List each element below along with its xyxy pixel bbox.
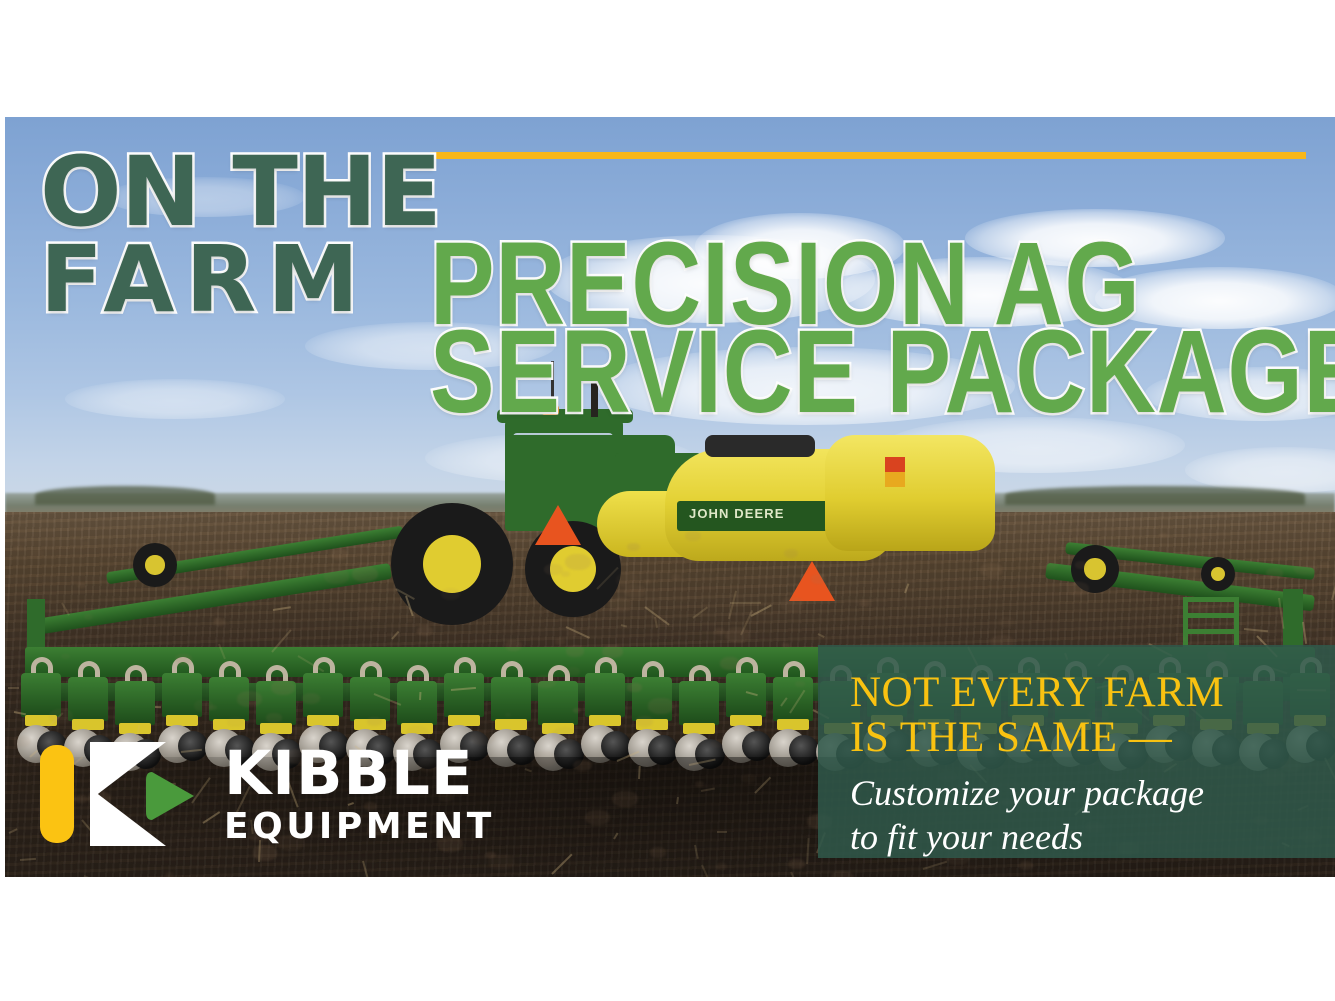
callout-subheading: Customize your package to fit your needs bbox=[850, 772, 1305, 860]
logo-yellow-bar-icon bbox=[40, 745, 74, 843]
gold-divider-rule bbox=[430, 152, 1306, 159]
logo-wordmark: KIBBLE EQUIPMENT bbox=[224, 743, 495, 845]
kibble-k-mark-icon bbox=[90, 742, 196, 846]
eyebrow-line-1: ON THE bbox=[40, 148, 441, 236]
kibble-equipment-logo[interactable]: KIBBLE EQUIPMENT bbox=[40, 742, 495, 846]
logo-name-secondary: EQUIPMENT bbox=[224, 809, 495, 845]
eyebrow-line-2: FARM bbox=[40, 238, 370, 323]
logo-name-primary: KIBBLE bbox=[224, 743, 495, 804]
promotional-banner: JOHN DEERE ON THE FARM PRECISION AG SERV… bbox=[0, 0, 1335, 1001]
callout-panel: NOT EVERY FARM IS THE SAME — Customize y… bbox=[818, 645, 1335, 858]
callout-heading: NOT EVERY FARM IS THE SAME — bbox=[850, 671, 1305, 760]
headline-line-2: SERVICE PACKAGES bbox=[430, 318, 1335, 427]
